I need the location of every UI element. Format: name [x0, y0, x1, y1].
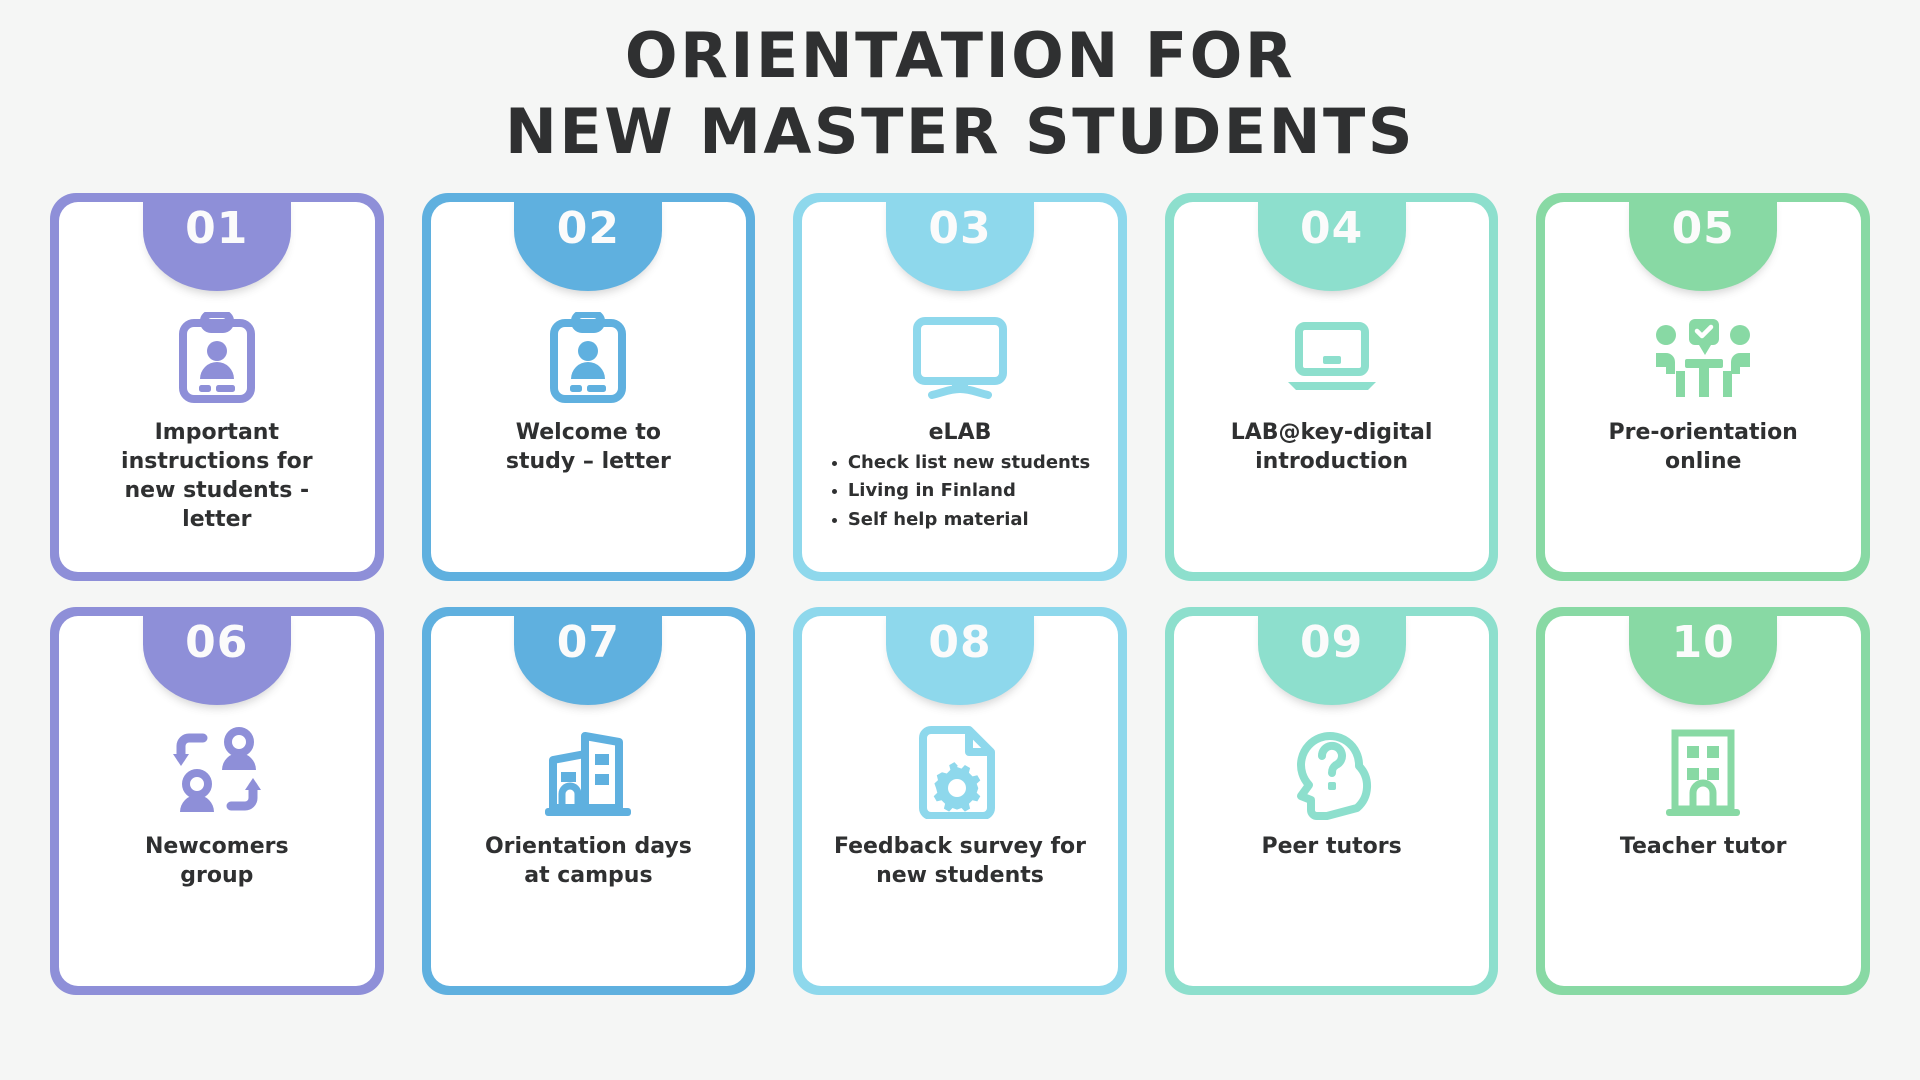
- card-number: 07: [557, 621, 620, 665]
- people-exchange-icon: [167, 724, 267, 820]
- card-inner: 08 Feedback survey for new students: [802, 616, 1118, 986]
- card-title: Welcome to study – letter: [445, 418, 733, 477]
- card-number-badge: 06: [143, 616, 291, 705]
- clipboard-person-icon: [549, 310, 627, 406]
- infographic-page: ORIENTATION FOR NEW MASTER STUDENTS 01 I…: [0, 0, 1920, 1080]
- card-text: Orientation days at campus: [431, 832, 747, 891]
- card-number: 05: [1672, 207, 1735, 251]
- card-grid: 01 Important instructions for new studen…: [50, 193, 1870, 995]
- card-text: Pre-orientation online: [1545, 418, 1861, 477]
- list-item: Check list new students: [830, 449, 1090, 477]
- card-title: eLAB: [816, 418, 1104, 447]
- card-04[interactable]: 04 LAB@key-digital introduction: [1165, 193, 1499, 581]
- card-number: 01: [185, 207, 248, 251]
- card-text: Feedback survey for new students: [802, 832, 1118, 891]
- list-item: Living in Finland: [830, 477, 1090, 505]
- card-inner: 05 Pre-orientation online: [1545, 202, 1861, 572]
- card-03[interactable]: 03 eLAB Check list new studentsLiving in…: [793, 193, 1127, 581]
- card-number-badge: 02: [514, 202, 662, 291]
- card-text: Peer tutors: [1174, 832, 1490, 861]
- card-08[interactable]: 08 Feedback survey for new students: [793, 607, 1127, 995]
- card-text: Important instructions for new students …: [59, 418, 375, 535]
- card-inner: 07 Orientation days at campus: [431, 616, 747, 986]
- card-02[interactable]: 02 Welcome to study – letter: [422, 193, 756, 581]
- card-inner: 01 Important instructions for new studen…: [59, 202, 375, 572]
- card-title: Peer tutors: [1188, 832, 1476, 861]
- card-inner: 04 LAB@key-digital introduction: [1174, 202, 1490, 572]
- card-bullet-list: Check list new studentsLiving in Finland…: [830, 449, 1090, 534]
- card-number: 08: [928, 621, 991, 665]
- meeting-people-check-icon: [1653, 310, 1753, 406]
- card-number: 03: [928, 207, 991, 251]
- card-title: Newcomers group: [73, 832, 361, 891]
- card-number: 10: [1672, 621, 1735, 665]
- card-title: Pre-orientation online: [1559, 418, 1847, 477]
- page-title-line-2: NEW MASTER STUDENTS: [0, 94, 1920, 170]
- card-title: Important instructions for new students …: [73, 418, 361, 535]
- card-05[interactable]: 05 Pre-orientation online: [1536, 193, 1870, 581]
- card-text: Welcome to study – letter: [431, 418, 747, 477]
- card-inner: 10 Teacher tutor: [1545, 616, 1861, 986]
- card-10[interactable]: 10 Teacher tutor: [1536, 607, 1870, 995]
- desktop-monitor-icon: [912, 310, 1008, 406]
- card-inner: 03 eLAB Check list new studentsLiving in…: [802, 202, 1118, 572]
- card-title: LAB@key-digital introduction: [1188, 418, 1476, 477]
- head-question-icon: [1291, 724, 1373, 820]
- card-number-badge: 09: [1258, 616, 1406, 705]
- card-01[interactable]: 01 Important instructions for new studen…: [50, 193, 384, 581]
- card-inner: 09 Peer tutors: [1174, 616, 1490, 986]
- clipboard-person-icon: [178, 310, 256, 406]
- campus-buildings-icon: [541, 724, 635, 820]
- card-inner: 06 Newcomers group: [59, 616, 375, 986]
- card-number: 02: [557, 207, 620, 251]
- card-inner: 02 Welcome to study – letter: [431, 202, 747, 572]
- card-number: 06: [185, 621, 248, 665]
- page-title: ORIENTATION FOR NEW MASTER STUDENTS: [0, 18, 1920, 171]
- card-number-badge: 03: [886, 202, 1034, 291]
- card-number-badge: 01: [143, 202, 291, 291]
- page-title-line-1: ORIENTATION FOR: [0, 18, 1920, 94]
- card-number: 04: [1300, 207, 1363, 251]
- card-text: LAB@key-digital introduction: [1174, 418, 1490, 477]
- card-06[interactable]: 06 Newcomers group: [50, 607, 384, 995]
- card-07[interactable]: 07 Orientation days at campus: [422, 607, 756, 995]
- list-item: Self help material: [830, 506, 1090, 534]
- card-text: eLAB Check list new studentsLiving in Fi…: [802, 418, 1118, 535]
- card-number-badge: 07: [514, 616, 662, 705]
- card-text: Newcomers group: [59, 832, 375, 891]
- card-09[interactable]: 09 Peer tutors: [1165, 607, 1499, 995]
- card-number-badge: 05: [1629, 202, 1777, 291]
- card-title: Orientation days at campus: [445, 832, 733, 891]
- card-title: Feedback survey for new students: [816, 832, 1104, 891]
- card-title: Teacher tutor: [1559, 832, 1847, 861]
- laptop-icon: [1282, 310, 1382, 406]
- card-text: Teacher tutor: [1545, 832, 1861, 861]
- document-gear-icon: [919, 724, 1001, 820]
- card-number-badge: 08: [886, 616, 1034, 705]
- school-building-icon: [1662, 724, 1744, 820]
- card-number-badge: 10: [1629, 616, 1777, 705]
- card-number: 09: [1300, 621, 1363, 665]
- card-number-badge: 04: [1258, 202, 1406, 291]
